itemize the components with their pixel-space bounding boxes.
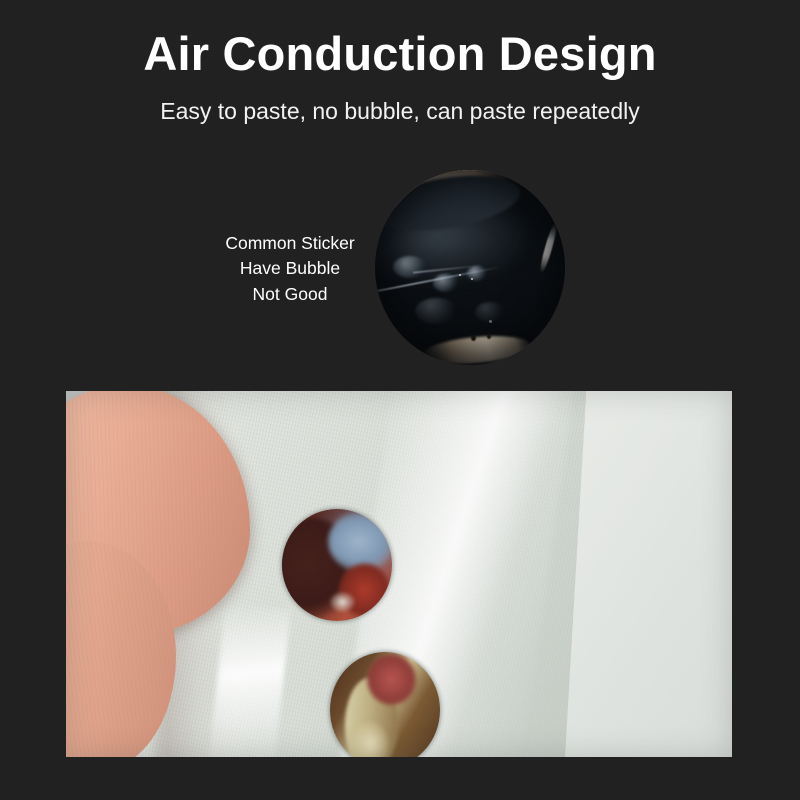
release-liner-photo: bubb — [66, 391, 732, 757]
caption-line-common-sticker: Common Sticker — [200, 231, 380, 256]
page-subtitle: Easy to paste, no bubble, can paste repe… — [0, 80, 800, 126]
comparison-caption: Common Sticker Have Bubble Not Good — [200, 231, 380, 307]
caption-line-have-bubble: Have Bubble — [200, 256, 380, 281]
promo-page: Air Conduction Design Easy to paste, no … — [0, 0, 800, 800]
caption-line-not-good: Not Good — [200, 282, 380, 307]
liner-punch-hole — [282, 509, 392, 621]
header: Air Conduction Design Easy to paste, no … — [0, 0, 800, 125]
liner-punch-hole — [330, 652, 440, 757]
circle-vignette — [375, 170, 565, 365]
hole-content-rose — [367, 654, 415, 705]
hole-content-highlight — [330, 592, 354, 612]
common-sticker-circle-photo — [375, 170, 565, 365]
page-title: Air Conduction Design — [0, 0, 800, 80]
